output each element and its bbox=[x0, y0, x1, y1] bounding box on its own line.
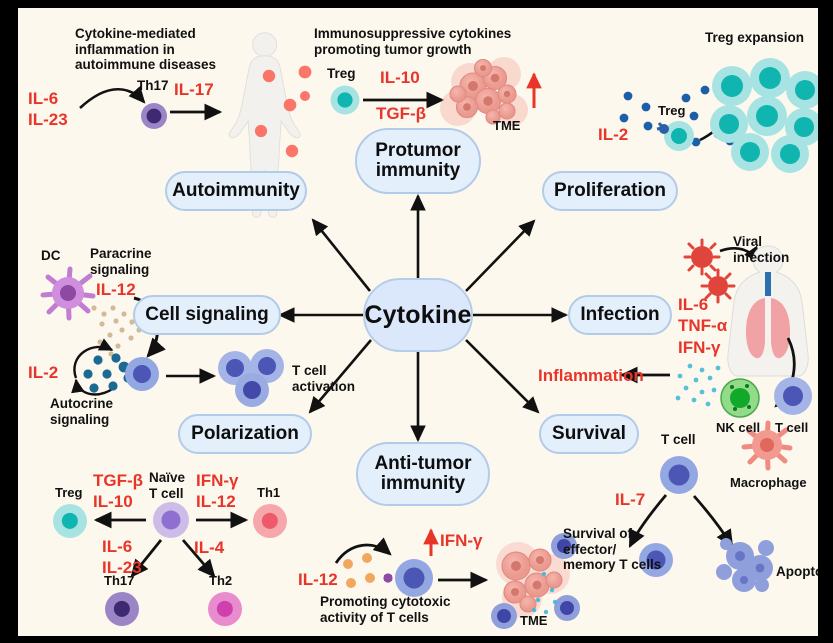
survival-cytokine-il7: IL-7 bbox=[615, 490, 645, 510]
node-protumor-immunity-label: Protumor immunity bbox=[375, 141, 461, 181]
node-protumor-immunity[interactable]: Protumor immunity bbox=[355, 128, 481, 194]
cell-signaling-cytokine-il2: IL-2 bbox=[28, 363, 58, 383]
node-proliferation-label: Proliferation bbox=[554, 181, 666, 201]
antitumor-cytokine-il12: IL-12 bbox=[298, 570, 338, 590]
node-autoimmunity[interactable]: Autoimmunity bbox=[165, 171, 307, 211]
polarization-down-right-cytokine: IL-4 bbox=[194, 538, 224, 558]
node-cell-signaling-label: Cell signaling bbox=[145, 305, 269, 325]
survival-right-outcome: Apoptosis bbox=[776, 564, 818, 580]
node-infection[interactable]: Infection bbox=[568, 295, 672, 335]
node-anti-tumor-immunity[interactable]: Anti-tumor immunity bbox=[356, 442, 490, 506]
protumor-treg-label: Treg bbox=[327, 66, 356, 82]
protumor-tme-label: TME bbox=[493, 118, 520, 133]
autoimmunity-input-cytokines: IL-6 IL-23 bbox=[28, 88, 68, 131]
node-survival-label: Survival bbox=[552, 424, 626, 444]
autoimmunity-th17-label: Th17 bbox=[137, 78, 169, 94]
infection-macrophage-label: Macrophage bbox=[730, 475, 807, 490]
cell-signaling-paracrine-label: Paracrine signaling bbox=[90, 246, 190, 277]
infection-nk-cell-label: NK cell bbox=[716, 420, 760, 435]
cell-signaling-autocrine-label: Autocrine signaling bbox=[50, 396, 150, 427]
proliferation-heading: Treg expansion bbox=[705, 30, 804, 46]
node-proliferation[interactable]: Proliferation bbox=[542, 171, 678, 211]
node-infection-label: Infection bbox=[580, 305, 659, 325]
survival-t-cell-label: T cell bbox=[661, 432, 696, 448]
node-cell-signaling[interactable]: Cell signaling bbox=[133, 295, 281, 335]
node-polarization-label: Polarization bbox=[191, 424, 299, 444]
hub-label: Cytokine bbox=[364, 302, 471, 328]
proliferation-treg-label: Treg bbox=[658, 103, 685, 118]
polarization-th2-cell bbox=[208, 592, 242, 626]
polarization-th17-cell bbox=[105, 592, 139, 626]
node-autoimmunity-label: Autoimmunity bbox=[172, 181, 300, 201]
cell-signaling-outcome-label: T cell activation bbox=[292, 363, 392, 394]
cell-signaling-cytokine-il12: IL-12 bbox=[96, 280, 136, 300]
infection-inflammation-label: Inflammation bbox=[538, 366, 644, 386]
antitumor-caption: Promoting cytotoxic activity of T cells bbox=[320, 594, 500, 625]
node-anti-tumor-immunity-label: Anti-tumor immunity bbox=[374, 454, 471, 494]
polarization-treg-cell bbox=[53, 504, 87, 538]
polarization-target-th2-label: Th2 bbox=[209, 573, 232, 588]
polarization-target-treg-label: Treg bbox=[55, 485, 82, 500]
protumor-heading: Immunosuppressive cytokines promoting tu… bbox=[314, 26, 564, 57]
infection-t-cell-label: T cell bbox=[775, 420, 808, 435]
proliferation-cytokine-il2: IL-2 bbox=[598, 125, 628, 145]
autoimmunity-output-cytokine: IL-17 bbox=[174, 80, 214, 100]
infection-cytokines: IL-6 TNF-α IFN-γ bbox=[678, 294, 727, 358]
figure-frame: Cytokine Autoimmunity Protumor immunity … bbox=[0, 0, 833, 643]
cell-signaling-dc-label: DC bbox=[41, 248, 61, 264]
protumor-cytokine-il10: IL-10 bbox=[380, 68, 420, 88]
polarization-target-th1-label: Th1 bbox=[257, 485, 280, 500]
polarization-target-th17-label: Th17 bbox=[104, 573, 134, 588]
autoimmunity-heading: Cytokine-mediated inflammation in autoim… bbox=[75, 26, 265, 73]
node-survival[interactable]: Survival bbox=[539, 414, 639, 454]
polarization-th1-cell bbox=[253, 504, 287, 538]
polarization-right-cytokines: IFN-γ IL-12 bbox=[196, 470, 239, 513]
node-polarization[interactable]: Polarization bbox=[178, 414, 312, 454]
hub-node-cytokine[interactable]: Cytokine bbox=[363, 278, 473, 352]
protumor-cytokine-tgfbeta: TGF-β bbox=[376, 104, 426, 124]
diagram-canvas: Cytokine Autoimmunity Protumor immunity … bbox=[18, 8, 818, 636]
antitumor-output-ifn-gamma: IFN-γ bbox=[440, 531, 483, 551]
polarization-left-cytokines: TGF-β IL-10 bbox=[93, 470, 143, 513]
antitumor-tme-label: TME bbox=[520, 613, 547, 628]
infection-heading: Viral infection bbox=[733, 234, 818, 265]
survival-left-outcome: Survival of effector/ memory T cells bbox=[563, 526, 673, 573]
